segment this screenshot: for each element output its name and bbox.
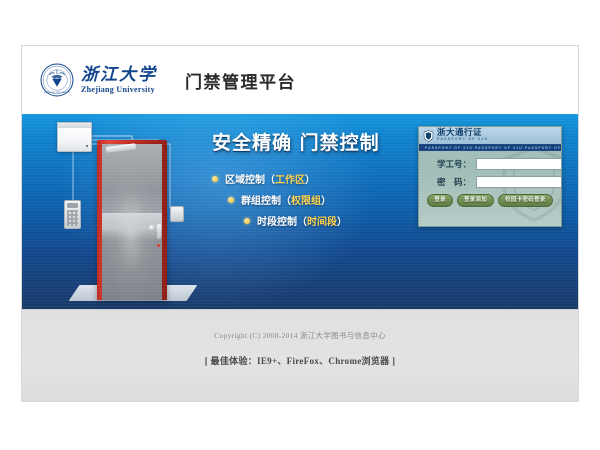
login-panel-titles: 浙大通行证 PASSPORT OF ZJU <box>437 129 488 142</box>
site-header: ZHEJIANG UNIVERSITY 浙江大学 Zhejiang Univer… <box>22 46 578 114</box>
field-row-userid: 学工号： <box>425 158 555 170</box>
door-frame <box>97 140 167 300</box>
page-root: ZHEJIANG UNIVERSITY 浙江大学 Zhejiang Univer… <box>0 0 600 450</box>
keypad-screen <box>67 203 78 208</box>
university-logo[interactable]: ZHEJIANG UNIVERSITY 浙江大学 Zhejiang Univer… <box>40 63 157 97</box>
slogan-block: 安全精确 门禁控制 区域控制（工作区） 群组控制（权限组） 时段控制（时间段） <box>212 128 417 234</box>
browser-compatibility-note: [ 最佳体验：IE9+、FireFox、Chrome浏览器 ] <box>205 354 396 367</box>
feature-tail-group: ） <box>321 192 331 207</box>
door-knob <box>149 225 155 231</box>
login-panel-header: 浙大通行证 PASSPORT OF ZJU <box>419 127 561 144</box>
feature-item-area: 区域控制（工作区） <box>212 171 417 186</box>
door-leaf <box>102 144 162 300</box>
feature-item-time: 时段控制（时间段） <box>212 213 417 228</box>
login-panel: 浙大通行证 PASSPORT OF ZJU PASSPORT OF ZJU PA… <box>418 126 562 227</box>
login-button[interactable]: 登录 <box>427 194 453 207</box>
access-control-door-illustration <box>46 122 196 307</box>
copyright-text: Copyright (C) 2008-2014 浙江大学图书与信息中心 <box>214 330 386 341</box>
controller-box <box>57 122 92 152</box>
login-panel-title-cn: 浙大通行证 <box>437 129 488 138</box>
password-input[interactable] <box>476 176 562 188</box>
controller-box-lid <box>57 122 92 128</box>
keypad-reader <box>64 200 81 229</box>
logo-text-cn: 浙江大学 <box>81 66 157 84</box>
feature-item-group: 群组控制（权限组） <box>212 192 417 207</box>
feature-highlight-time: 时间段 <box>307 213 337 228</box>
door-handle <box>157 224 161 239</box>
bullet-icon <box>244 218 250 224</box>
field-row-password: 密 码： <box>425 176 555 188</box>
login-button-row: 登录 登录添加 校园卡密码登录 <box>425 194 555 207</box>
login-add-button[interactable]: 登录添加 <box>457 194 494 207</box>
feature-highlight-group: 权限组 <box>291 192 321 207</box>
feature-tail-area: ） <box>305 171 315 186</box>
slogan-headline: 安全精确 门禁控制 <box>212 128 417 155</box>
logo-text-en: Zhejiang University <box>81 85 157 95</box>
page-title: 门禁管理平台 <box>185 68 296 93</box>
svg-text:ZHEJIANG UNIVERSITY: ZHEJIANG UNIVERSITY <box>44 91 71 94</box>
shield-icon <box>423 130 434 142</box>
campus-card-login-button[interactable]: 校园卡密码登录 <box>498 194 553 207</box>
site-footer: Copyright (C) 2008-2014 浙江大学图书与信息中心 [ 最佳… <box>22 309 578 402</box>
feature-label-group: 群组控制（ <box>241 192 291 207</box>
feature-tail-time: ） <box>337 213 347 228</box>
userid-input[interactable] <box>476 158 562 170</box>
login-panel-strip-text: PASSPORT OF ZJU PASSPORT OF ZJU PASSPORT… <box>419 146 561 150</box>
bullet-icon <box>228 197 234 203</box>
feature-label-time: 时段控制（ <box>257 213 307 228</box>
login-panel-strip: PASSPORT OF ZJU PASSPORT OF ZJU PASSPORT… <box>419 144 561 151</box>
feature-highlight-area: 工作区 <box>275 171 305 186</box>
login-form: 学工号： 密 码： 登录 登录添加 校园卡密码登录 <box>419 151 561 207</box>
door-status-led <box>157 244 160 247</box>
logo-wordmark: 浙江大学 Zhejiang University <box>81 66 157 94</box>
password-label: 密 码： <box>425 176 471 188</box>
userid-label: 学工号： <box>425 158 471 170</box>
zju-seal-icon: ZHEJIANG UNIVERSITY <box>40 63 74 97</box>
card-reader <box>170 206 184 222</box>
controller-led <box>86 145 88 147</box>
feature-label-area: 区域控制（ <box>225 171 275 186</box>
keypad-keys <box>67 210 78 226</box>
bullet-icon <box>212 176 218 182</box>
site-card: ZHEJIANG UNIVERSITY 浙江大学 Zhejiang Univer… <box>21 45 579 402</box>
hero-banner: 安全精确 门禁控制 区域控制（工作区） 群组控制（权限组） 时段控制（时间段） <box>22 114 578 309</box>
feature-list: 区域控制（工作区） 群组控制（权限组） 时段控制（时间段） <box>212 171 417 228</box>
login-panel-title-en: PASSPORT OF ZJU <box>437 138 488 142</box>
